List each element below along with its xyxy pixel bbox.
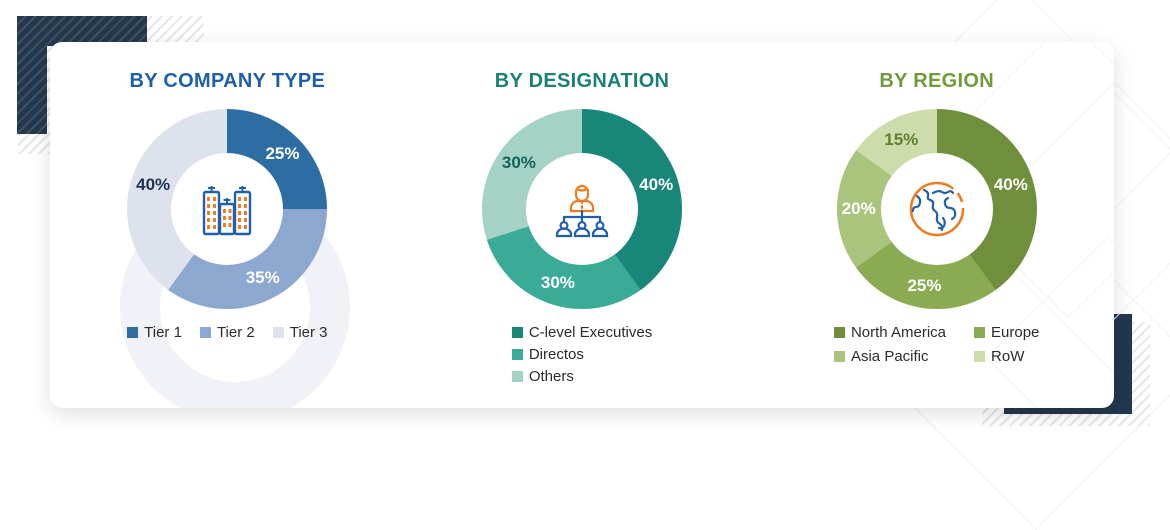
- org-chart-icon: [551, 180, 613, 238]
- globe-icon: [906, 178, 968, 240]
- slice-label: 30%: [541, 273, 575, 293]
- panel-title-region: BY REGION: [879, 70, 994, 93]
- slice-label: 15%: [884, 130, 918, 150]
- panel-by-region: BY REGION: [759, 42, 1114, 408]
- panel-by-designation: BY DESIGNATION: [405, 42, 760, 408]
- donut-chart-designation: 40% 30% 30%: [482, 109, 682, 309]
- legend-label: Asia Pacific: [851, 349, 929, 364]
- legend-swatch: [200, 327, 211, 338]
- panel-title-designation: BY DESIGNATION: [495, 70, 670, 93]
- charts-card: BY COMPANY TYPE: [50, 42, 1114, 408]
- legend-label: C-level Executives: [529, 325, 652, 340]
- legend-item-north-america[interactable]: North America: [834, 325, 946, 340]
- slice-label: 35%: [246, 268, 280, 288]
- legend-swatch: [974, 351, 985, 362]
- legend-swatch: [512, 371, 523, 382]
- panel-by-company-type: BY COMPANY TYPE: [50, 42, 405, 408]
- legend-item-row[interactable]: RoW: [974, 349, 1039, 364]
- slice-label: 40%: [994, 175, 1028, 195]
- legend-company-type: Tier 1 Tier 2 Tier 3: [127, 325, 327, 340]
- legend-label: Europe: [991, 325, 1039, 340]
- donut-center: [171, 153, 283, 265]
- legend-item-c-level-executives[interactable]: C-level Executives: [512, 325, 652, 340]
- legend-label: Others: [529, 369, 574, 384]
- legend-label: Tier 3: [290, 325, 328, 340]
- slice-label: 25%: [265, 144, 299, 164]
- legend-swatch: [273, 327, 284, 338]
- legend-swatch: [834, 327, 845, 338]
- buildings-icon: [195, 180, 259, 238]
- slice-label: 20%: [842, 199, 876, 219]
- legend-swatch: [512, 327, 523, 338]
- legend-item-europe[interactable]: Europe: [974, 325, 1039, 340]
- legend-region: North America Europe Asia Pacific RoW: [834, 325, 1039, 364]
- slice-label: 40%: [136, 175, 170, 195]
- legend-label: North America: [851, 325, 946, 340]
- legend-label: Tier 1: [144, 325, 182, 340]
- legend-item-tier-2[interactable]: Tier 2: [200, 325, 255, 340]
- legend-swatch: [834, 351, 845, 362]
- legend-swatch: [127, 327, 138, 338]
- slice-label: 40%: [639, 175, 673, 195]
- legend-item-tier-1[interactable]: Tier 1: [127, 325, 182, 340]
- donut-center: [526, 153, 638, 265]
- legend-label: RoW: [991, 349, 1024, 364]
- legend-label: Tier 2: [217, 325, 255, 340]
- legend-designation: C-level Executives Directos Others: [512, 325, 652, 384]
- legend-label: Directos: [529, 347, 584, 362]
- donut-chart-company-type: 25% 35% 40%: [127, 109, 327, 309]
- legend-item-others[interactable]: Others: [512, 369, 574, 384]
- legend-swatch: [512, 349, 523, 360]
- legend-item-tier-3[interactable]: Tier 3: [273, 325, 328, 340]
- panel-title-company-type: BY COMPANY TYPE: [130, 70, 326, 93]
- slice-label: 30%: [502, 153, 536, 173]
- donut-center: [881, 153, 993, 265]
- legend-item-asia-pacific[interactable]: Asia Pacific: [834, 349, 946, 364]
- donut-chart-region: 40% 25% 20% 15%: [837, 109, 1037, 309]
- legend-item-directos[interactable]: Directos: [512, 347, 584, 362]
- legend-swatch: [974, 327, 985, 338]
- slice-label: 25%: [907, 276, 941, 296]
